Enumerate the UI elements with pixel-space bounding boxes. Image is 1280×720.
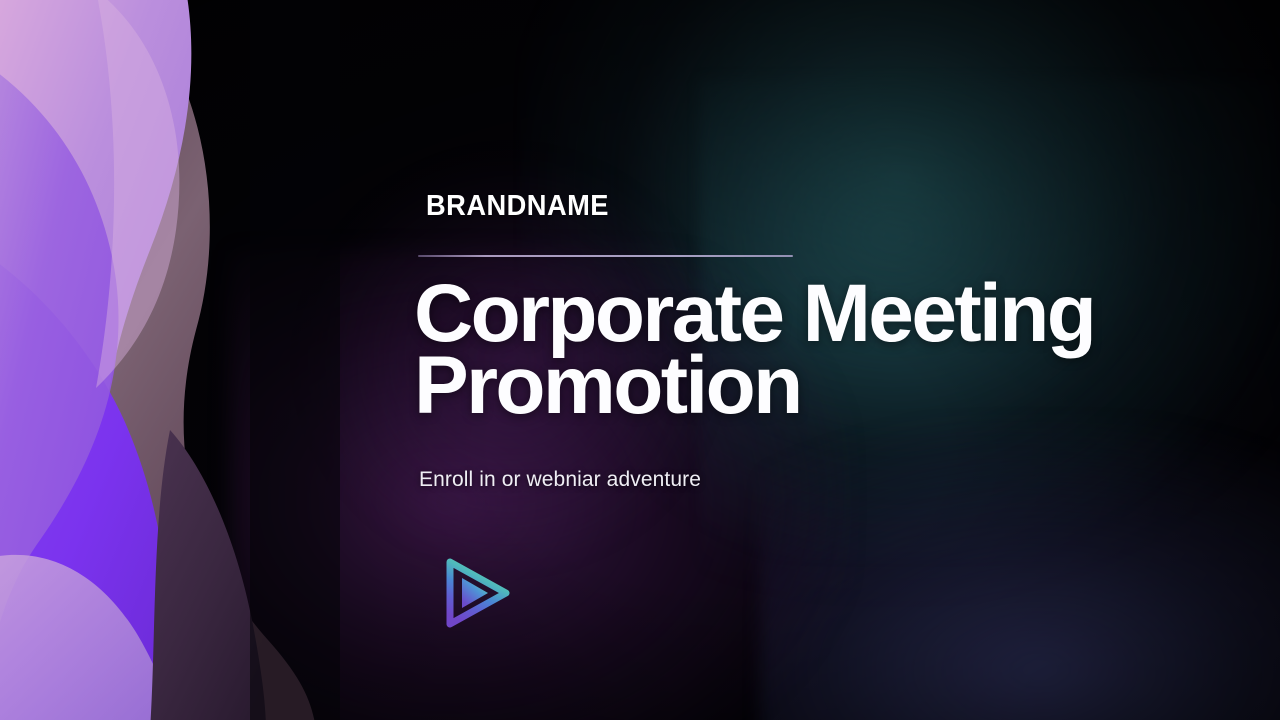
content-block: BRANDNAME Corporate Meeting Promotion En… xyxy=(418,0,1198,720)
brand-name: BRANDNAME xyxy=(426,190,609,223)
promo-slide: BRANDNAME Corporate Meeting Promotion En… xyxy=(0,0,1280,720)
decorative-waves xyxy=(0,0,340,720)
subtitle: Enroll in or webniar adventure xyxy=(419,468,701,492)
divider-rule xyxy=(418,255,793,257)
page-title: Corporate Meeting Promotion xyxy=(414,278,1204,422)
headline-line-2: Promotion xyxy=(414,350,1204,422)
play-triangle-icon xyxy=(432,548,522,638)
